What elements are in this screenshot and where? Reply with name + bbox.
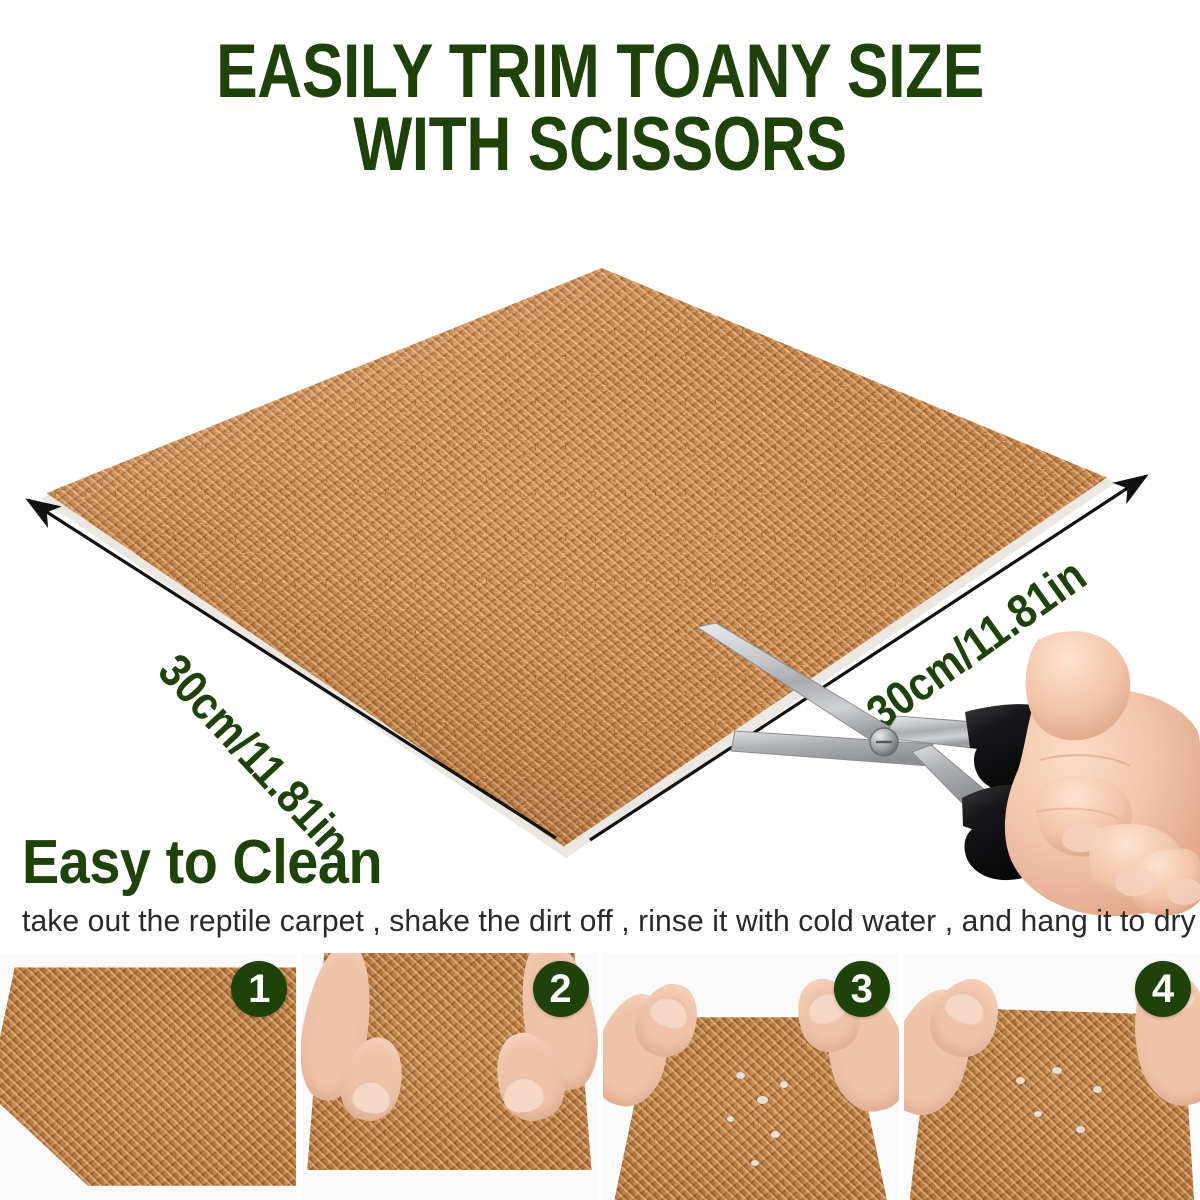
step-panel-3[interactable]: 3	[603, 953, 899, 1200]
step-3-debris-1	[736, 1072, 745, 1079]
step-4-debris-2	[1052, 1067, 1062, 1074]
step-4-debris-1	[1016, 1077, 1025, 1084]
step-thumbnail-row: 1 2	[0, 953, 1200, 1200]
step-number-2: 2	[549, 969, 571, 1009]
step-badge-4: 4	[1135, 961, 1191, 1017]
step-4-debris-5	[1076, 1126, 1085, 1133]
step-badge-2: 2	[533, 961, 589, 1017]
step-panel-2[interactable]: 2	[301, 953, 597, 1200]
step-panel-1[interactable]: 1	[0, 953, 296, 1200]
product-infographic: EASILY TRIM TOANY SIZE WITH SCISSORS 30c…	[0, 0, 1200, 1200]
step-panel-4[interactable]: 4	[904, 953, 1200, 1200]
step-badge-1: 1	[231, 961, 287, 1017]
scissors-upper-blade	[697, 623, 900, 752]
easy-to-clean-heading: Easy to Clean	[22, 832, 382, 894]
step-number-3: 3	[851, 969, 873, 1009]
step-badge-3: 3	[834, 961, 890, 1017]
step-3-debris-4	[727, 1116, 734, 1122]
step-number-1: 1	[248, 969, 270, 1009]
easy-to-clean-subtext: take out the reptile carpet , shake the …	[22, 903, 1157, 939]
step-number-4: 4	[1152, 969, 1174, 1009]
step-3-debris-2	[757, 1096, 768, 1104]
